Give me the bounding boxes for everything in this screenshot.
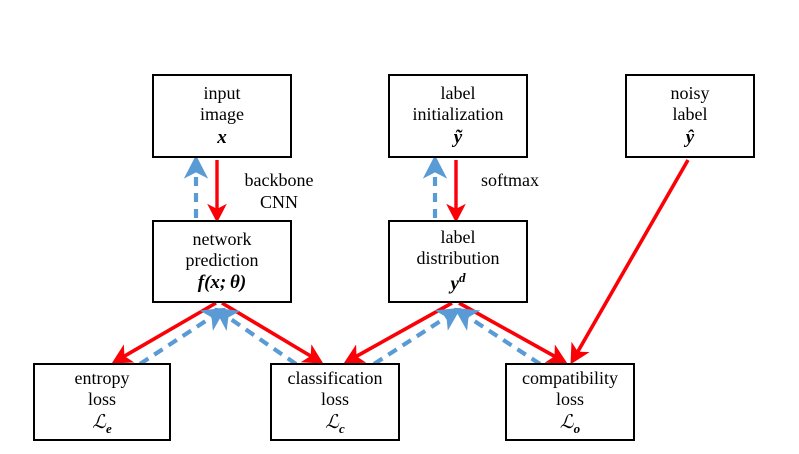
- ld-sym-base: y: [451, 274, 459, 295]
- node-entropy-loss-symbol: ℒe: [92, 411, 111, 436]
- node-label-initialization-symbol: ỹ: [454, 127, 462, 149]
- arrow-classification-to-labeldist-backward: [374, 311, 456, 364]
- cl-sym-base: ℒ: [325, 411, 339, 433]
- arrow-entropy-to-network-backward: [140, 311, 221, 364]
- node-input-image-line2: image: [200, 104, 244, 125]
- arrow-labeldist-to-classification-forward: [348, 303, 452, 361]
- node-compatibility-loss-line1: compatibility: [522, 368, 618, 389]
- edge-label-softmax: softmax: [470, 170, 550, 192]
- edge-label-backbone-cnn: backbone CNN: [231, 170, 327, 213]
- node-network-prediction[interactable]: network prediction f(x; θ): [152, 220, 292, 303]
- arrow-network-to-classification-forward: [222, 303, 319, 361]
- node-classification-loss-symbol: ℒc: [325, 411, 344, 436]
- node-compatibility-loss-symbol: ℒo: [560, 411, 580, 436]
- node-label-distribution-line1: label: [441, 227, 476, 248]
- arrow-network-to-entropy-forward: [116, 303, 216, 361]
- node-label-initialization-line2: initialization: [413, 104, 504, 125]
- node-classification-loss[interactable]: classification loss ℒc: [270, 363, 400, 441]
- edge-label-softmax-text: softmax: [470, 170, 550, 192]
- node-entropy-loss-line2: loss: [88, 389, 116, 410]
- node-label-distribution-symbol: yd: [451, 270, 466, 296]
- node-label-distribution-line2: distribution: [416, 248, 499, 269]
- node-noisy-label-symbol: ŷ: [686, 127, 694, 149]
- cl-sym-sub: c: [339, 421, 345, 436]
- node-entropy-loss[interactable]: entropy loss ℒe: [33, 363, 171, 441]
- node-noisy-label-line1: noisy: [670, 83, 709, 104]
- node-input-image-line1: input: [203, 83, 240, 104]
- np-sym-semi: ;: [220, 272, 226, 293]
- el-sym-sub: e: [106, 421, 112, 436]
- arrow-compatibility-to-labeldist-backward: [459, 311, 540, 364]
- np-sym-close: ): [240, 272, 246, 293]
- node-compatibility-loss[interactable]: compatibility loss ℒo: [505, 363, 635, 441]
- ld-sym-sup: d: [459, 270, 466, 285]
- node-label-initialization-line1: label: [441, 83, 476, 104]
- col-sym-base: ℒ: [560, 411, 574, 433]
- edge-label-backbone-cnn-line1: backbone: [231, 170, 327, 192]
- node-network-prediction-line1: network: [193, 229, 252, 250]
- np-sym-x: x: [210, 272, 220, 293]
- node-input-image-symbol: x: [217, 127, 227, 149]
- arrow-noisylabel-to-compatibility-forward: [573, 160, 688, 360]
- node-compatibility-loss-line2: loss: [556, 389, 584, 410]
- col-sym-sub: o: [574, 421, 581, 436]
- node-classification-loss-line1: classification: [288, 368, 383, 389]
- node-noisy-label[interactable]: noisy label ŷ: [625, 74, 755, 158]
- diagram-canvas: input image x label initialization ỹ noi…: [0, 0, 799, 454]
- edge-label-backbone-cnn-line2: CNN: [231, 192, 327, 214]
- node-entropy-loss-line1: entropy: [75, 368, 130, 389]
- node-noisy-label-line2: label: [673, 104, 708, 125]
- arrow-classification-to-network-backward: [219, 311, 296, 364]
- el-sym-base: ℒ: [92, 411, 106, 433]
- node-label-distribution[interactable]: label distribution yd: [388, 220, 528, 303]
- node-network-prediction-line2: prediction: [186, 250, 259, 271]
- np-sym-theta: θ: [230, 272, 240, 293]
- arrow-labeldist-to-compatibility-forward: [459, 303, 563, 361]
- node-input-image[interactable]: input image x: [152, 74, 292, 158]
- node-label-initialization[interactable]: label initialization ỹ: [388, 74, 528, 158]
- node-classification-loss-line2: loss: [321, 389, 349, 410]
- node-network-prediction-symbol: f(x; θ): [198, 272, 247, 294]
